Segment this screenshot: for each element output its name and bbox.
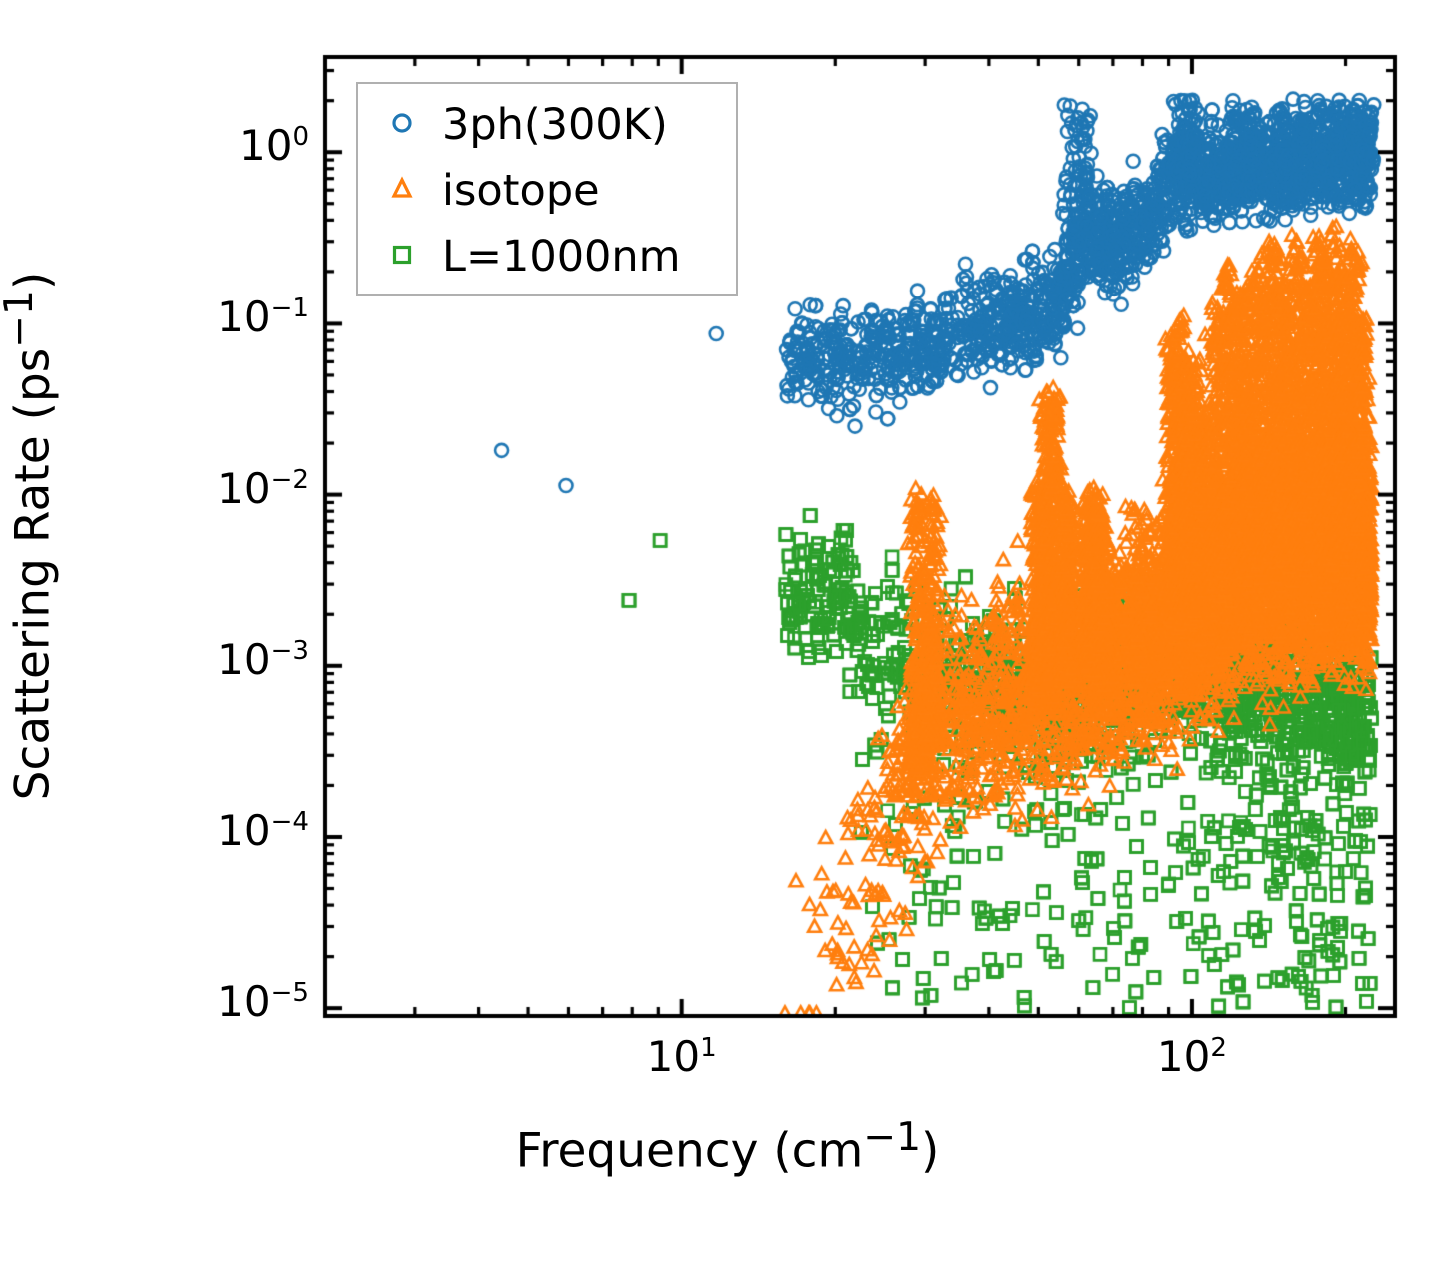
legend-label-isotope: isotope bbox=[442, 170, 600, 213]
y-tick-label: 10−2 bbox=[217, 468, 309, 510]
x-tick-label: 102 bbox=[1082, 1036, 1302, 1078]
y-axis-label: Scattering Rate (ps−1) bbox=[0, 0, 57, 1076]
y-tick-label: 10−5 bbox=[217, 981, 309, 1023]
scatter-plot-figure: 10010−110−210−310−410−5101102 3ph(300K) … bbox=[0, 0, 1455, 1265]
legend-marker-circle-icon bbox=[376, 108, 428, 142]
x-axis-label: Frequency (cm−1) bbox=[0, 1118, 1455, 1175]
y-tick-label: 100 bbox=[239, 125, 309, 167]
legend-box: 3ph(300K) isotope L=1000nm bbox=[356, 82, 738, 296]
legend-label-3ph: 3ph(300K) bbox=[442, 104, 668, 147]
y-tick-label: 10−1 bbox=[217, 296, 309, 338]
legend-entry-boundary: L=1000nm bbox=[358, 224, 736, 290]
x-tick-label: 101 bbox=[572, 1036, 792, 1078]
legend-marker-square-icon bbox=[376, 240, 428, 274]
legend-entry-isotope: isotope bbox=[358, 158, 736, 224]
legend-marker-triangle-icon bbox=[376, 174, 428, 208]
y-tick-label: 10−4 bbox=[217, 810, 309, 852]
y-axis-label-wrapper: Scattering Rate (ps−1) bbox=[0, 0, 96, 1076]
legend-entry-3ph: 3ph(300K) bbox=[358, 92, 736, 158]
y-tick-label: 10−3 bbox=[217, 639, 309, 681]
legend-label-boundary: L=1000nm bbox=[442, 236, 681, 279]
